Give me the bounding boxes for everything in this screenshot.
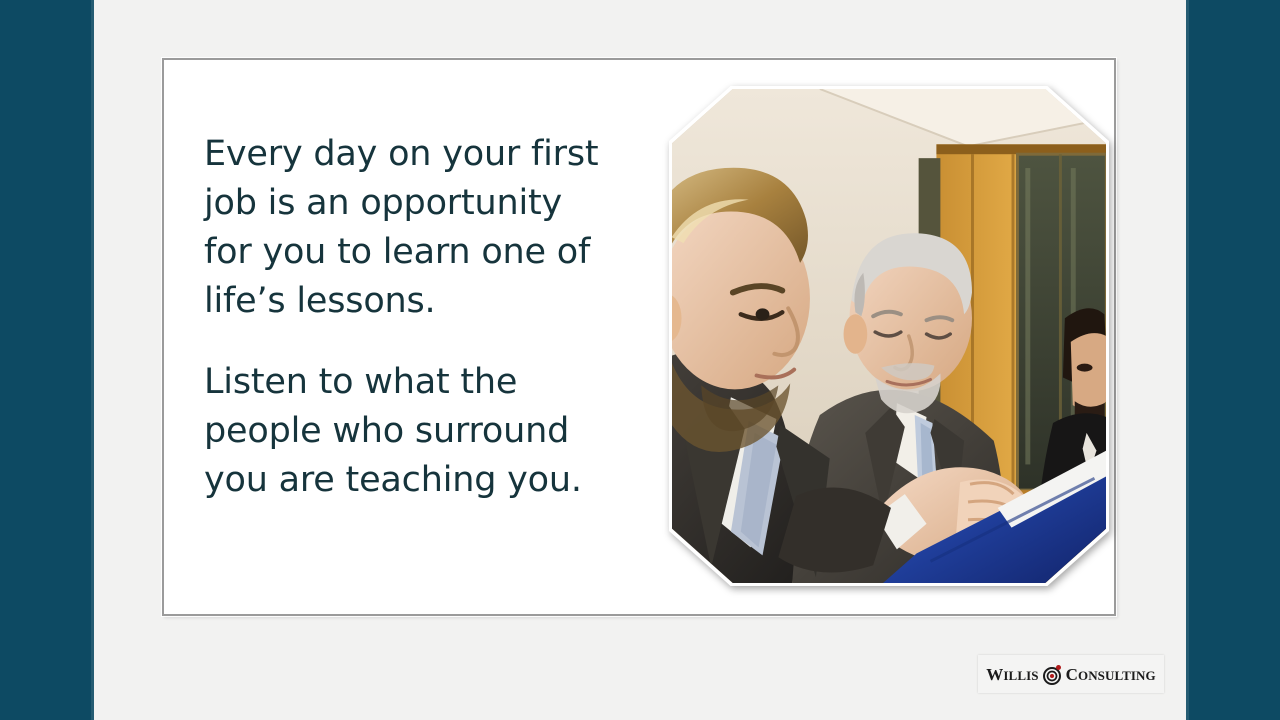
quote-block: Every day on your first job is an opport… (204, 130, 614, 505)
logo-consulting-cap: C (1066, 665, 1078, 684)
content-panel: Every day on your first job is an opport… (162, 58, 1116, 616)
logo-word-consulting: CONSULTING (1066, 666, 1156, 683)
willis-consulting-logo: WILLIS CONSULTING (978, 655, 1164, 693)
logo-willis-rest: ILLIS (1003, 668, 1038, 683)
bullseye-target-icon (1042, 664, 1063, 685)
logo-word-willis: WILLIS (986, 666, 1038, 683)
photo-image (672, 89, 1106, 583)
photo-illustration (672, 89, 1106, 583)
bullseye-svg (1042, 664, 1063, 685)
slide-stage: Every day on your first job is an opport… (0, 0, 1280, 720)
logo-consulting-rest: ONSULTING (1078, 668, 1156, 683)
office-photo (669, 86, 1109, 586)
slide-canvas: Every day on your first job is an opport… (94, 0, 1186, 720)
letterbox-bar-left (0, 0, 94, 720)
quote-paragraph-2: Listen to what the people who surround y… (204, 358, 614, 505)
photo-frame-border (669, 86, 1109, 586)
logo-willis-cap: W (986, 665, 1003, 684)
quote-paragraph-1: Every day on your first job is an opport… (204, 130, 614, 326)
letterbox-bar-right (1186, 0, 1280, 720)
